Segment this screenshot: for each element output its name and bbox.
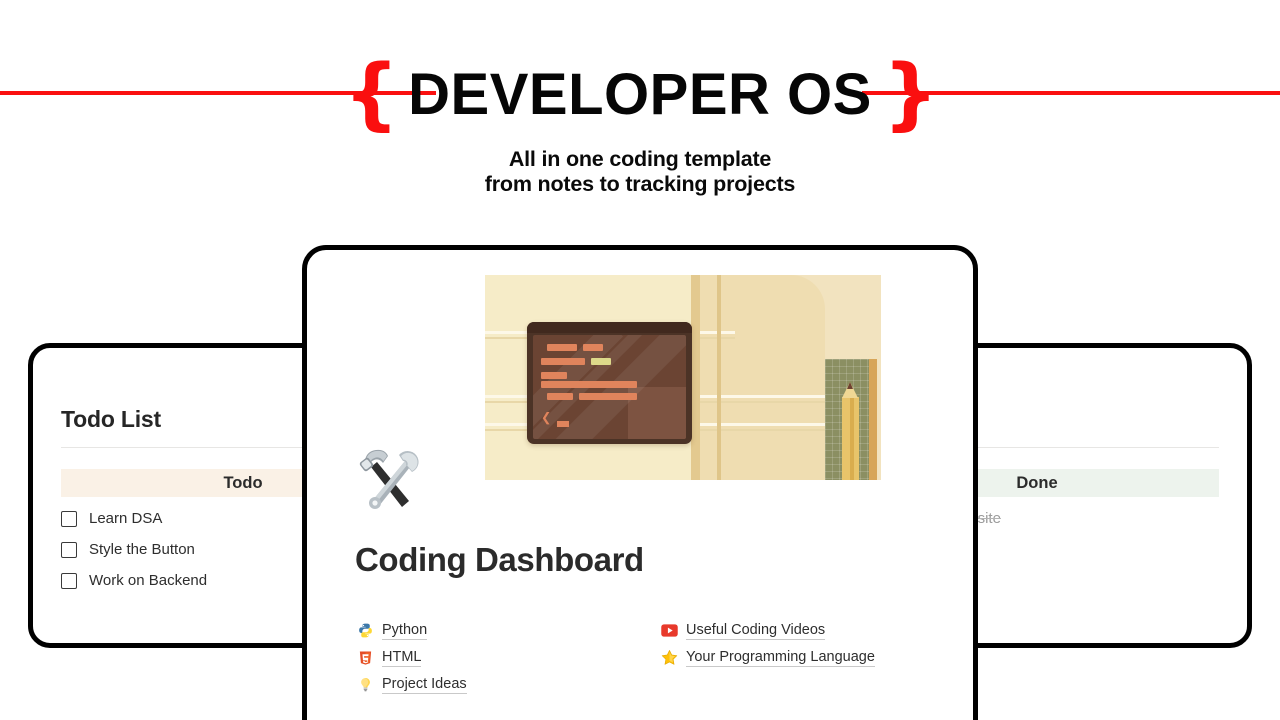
page-title: DEVELOPER OS [397,62,883,127]
brace-close-icon: } [883,49,937,139]
link-python[interactable]: Python [355,617,623,644]
code-line [579,393,637,400]
brace-open-icon: { [344,49,398,139]
subtitle: All in one coding template from notes to… [0,147,1280,197]
poster-canvas: {DEVELOPER OS} All in one coding templat… [0,0,1280,720]
hammer-and-wrench-icon [355,446,425,516]
code-line-highlight [591,358,611,365]
notebook-spine [691,275,700,480]
link-label: HTML [382,649,421,667]
links-column-right: Useful Coding Videos Your Programming La… [659,617,927,698]
brand-title-wrap: {DEVELOPER OS} [0,55,1280,133]
python-icon [355,622,375,640]
html5-icon [355,649,375,667]
links-column-left: Python HTML [355,617,623,698]
subtitle-line-1: All in one coding template [0,147,1280,172]
terminal-titlebar [527,322,692,333]
link-project-ideas[interactable]: Project Ideas [355,671,623,698]
link-useful-coding-videos[interactable]: Useful Coding Videos [659,617,927,644]
link-html[interactable]: HTML [355,644,623,671]
task-label: Work on Backend [89,572,207,589]
code-line [541,358,585,365]
terminal-prompt-icon: ❮ [541,410,551,427]
code-line [541,381,637,388]
todo-card-title: Todo List [61,406,161,433]
checkbox[interactable] [61,573,77,589]
notepad-edge [869,359,877,480]
cover-illustration: ❮ [485,275,881,480]
code-line [547,393,573,400]
link-label: Your Programming Language [686,649,875,667]
terminal-body: ❮ [533,335,686,439]
lightbulb-icon [355,676,375,694]
terminal-window-icon: ❮ [527,322,692,444]
code-line [547,344,577,351]
dashboard-links: Python HTML [355,617,935,698]
dashboard-title: Coding Dashboard [355,541,644,579]
pencil-lead [847,382,853,389]
checkbox[interactable] [61,542,77,558]
task-label: Learn DSA [89,510,162,527]
notebook-cover [693,275,825,480]
code-line [583,344,603,351]
checkbox[interactable] [61,511,77,527]
star-icon [659,649,679,667]
youtube-icon [659,622,679,640]
notebook-spine-inner [717,275,721,480]
link-your-programming-language[interactable]: Your Programming Language [659,644,927,671]
link-label: Project Ideas [382,676,467,694]
link-label: Useful Coding Videos [686,622,825,640]
task-label: Style the Button [89,541,195,558]
code-line [541,372,567,379]
coding-dashboard-card: ❮ [302,245,978,720]
link-label: Python [382,622,427,640]
terminal-cursor [557,421,569,427]
pencil-stripe [850,397,854,480]
subtitle-line-2: from notes to tracking projects [0,172,1280,197]
